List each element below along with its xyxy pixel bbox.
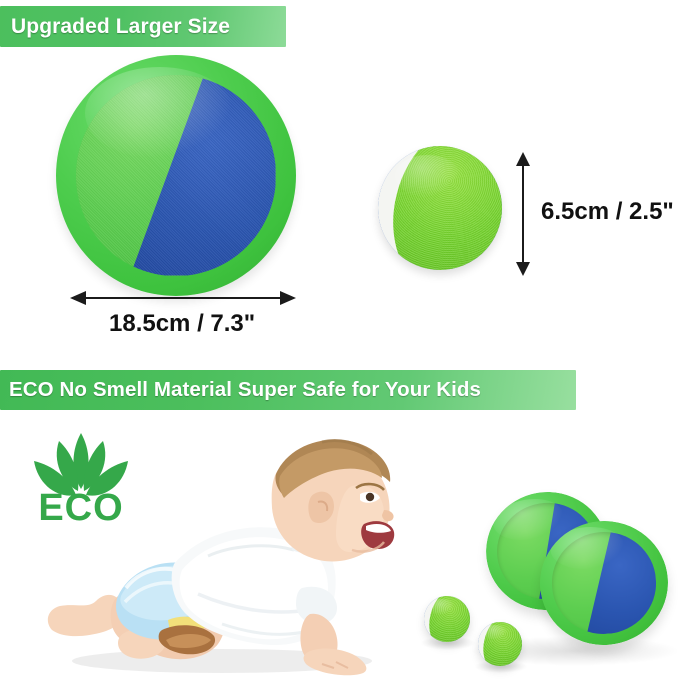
paddle-inner-face [76,75,275,275]
banner-upgraded-larger-size: Upgraded Larger Size [0,6,286,47]
ball-gloss-highlight [430,599,454,615]
paddle-bottom-front [536,517,672,650]
banner-size-text: Upgraded Larger Size [11,15,230,39]
ball-bottom-2 [478,622,522,666]
paddle-dimension-line [86,297,282,299]
ball-gloss-highlight [484,625,507,640]
banner-eco-text: ECO No Smell Material Super Safe for You… [9,378,481,402]
banner-eco-no-smell-material: ECO No Smell Material Super Safe for You… [0,370,576,410]
ball-dimension-line [522,164,524,264]
arrow-left-icon [70,291,86,305]
eco-logo-label: ECO [22,487,140,530]
ball-main-image [378,146,502,270]
paddle-dimension-label: 18.5cm / 7.3" [109,310,255,338]
paddle-large-image [56,55,296,296]
ball-dimension-label: 6.5cm / 2.5" [541,198,674,226]
ball-gloss-highlight [395,155,459,197]
arrow-down-icon [516,262,530,276]
arrow-up-icon [516,152,530,166]
arrow-right-icon [280,291,296,305]
ball-bottom-1 [424,596,470,642]
